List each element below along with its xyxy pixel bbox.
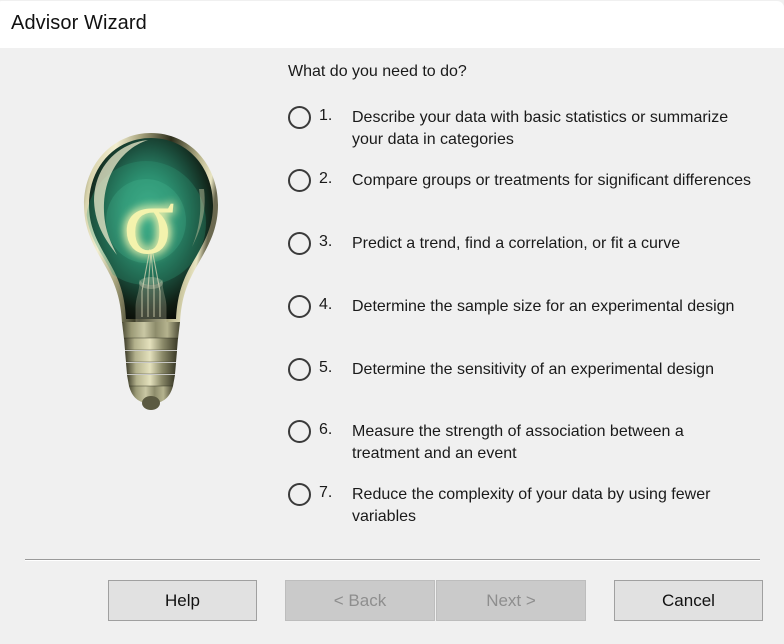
back-button: < Back bbox=[285, 580, 435, 621]
next-button: Next > bbox=[436, 580, 586, 621]
window-title: Advisor Wizard bbox=[11, 12, 147, 35]
lightbulb-sigma-icon: σ bbox=[76, 131, 226, 414]
option-label-1: Describe your data with basic statistics… bbox=[352, 107, 752, 151]
option-label-4: Determine the sample size for an experim… bbox=[352, 296, 752, 318]
option-label-7: Reduce the complexity of your data by us… bbox=[352, 484, 752, 528]
advisor-wizard-window: Advisor Wizard bbox=[0, 0, 784, 644]
help-button[interactable]: Help bbox=[108, 580, 257, 621]
radio-button-3[interactable] bbox=[288, 232, 311, 255]
option-label-5: Determine the sensitivity of an experime… bbox=[352, 359, 752, 381]
radio-button-1[interactable] bbox=[288, 106, 311, 129]
option-label-2: Compare groups or treatments for signifi… bbox=[352, 170, 752, 192]
footer-divider bbox=[25, 559, 760, 561]
option-number-1: 1. bbox=[319, 107, 345, 125]
page-title: What do you need to do? bbox=[288, 63, 467, 81]
option-number-6: 6. bbox=[319, 421, 345, 439]
radio-button-2[interactable] bbox=[288, 169, 311, 192]
wizard-content-pane: σ What do you need to do? bbox=[0, 48, 784, 644]
radio-button-5[interactable] bbox=[288, 358, 311, 381]
sigma-glyph: σ bbox=[123, 167, 175, 274]
option-number-4: 4. bbox=[319, 296, 345, 314]
option-number-5: 5. bbox=[319, 359, 345, 377]
radio-button-6[interactable] bbox=[288, 420, 311, 443]
option-number-3: 3. bbox=[319, 233, 345, 251]
option-number-2: 2. bbox=[319, 170, 345, 188]
radio-button-7[interactable] bbox=[288, 483, 311, 506]
option-label-3: Predict a trend, find a correlation, or … bbox=[352, 233, 752, 255]
option-number-7: 7. bbox=[319, 484, 345, 502]
cancel-button[interactable]: Cancel bbox=[614, 580, 763, 621]
radio-button-4[interactable] bbox=[288, 295, 311, 318]
option-label-6: Measure the strength of association betw… bbox=[352, 421, 752, 465]
window-titlebar: Advisor Wizard bbox=[0, 1, 784, 48]
wizard-button-bar: Help < Back Next > Cancel bbox=[0, 580, 784, 624]
